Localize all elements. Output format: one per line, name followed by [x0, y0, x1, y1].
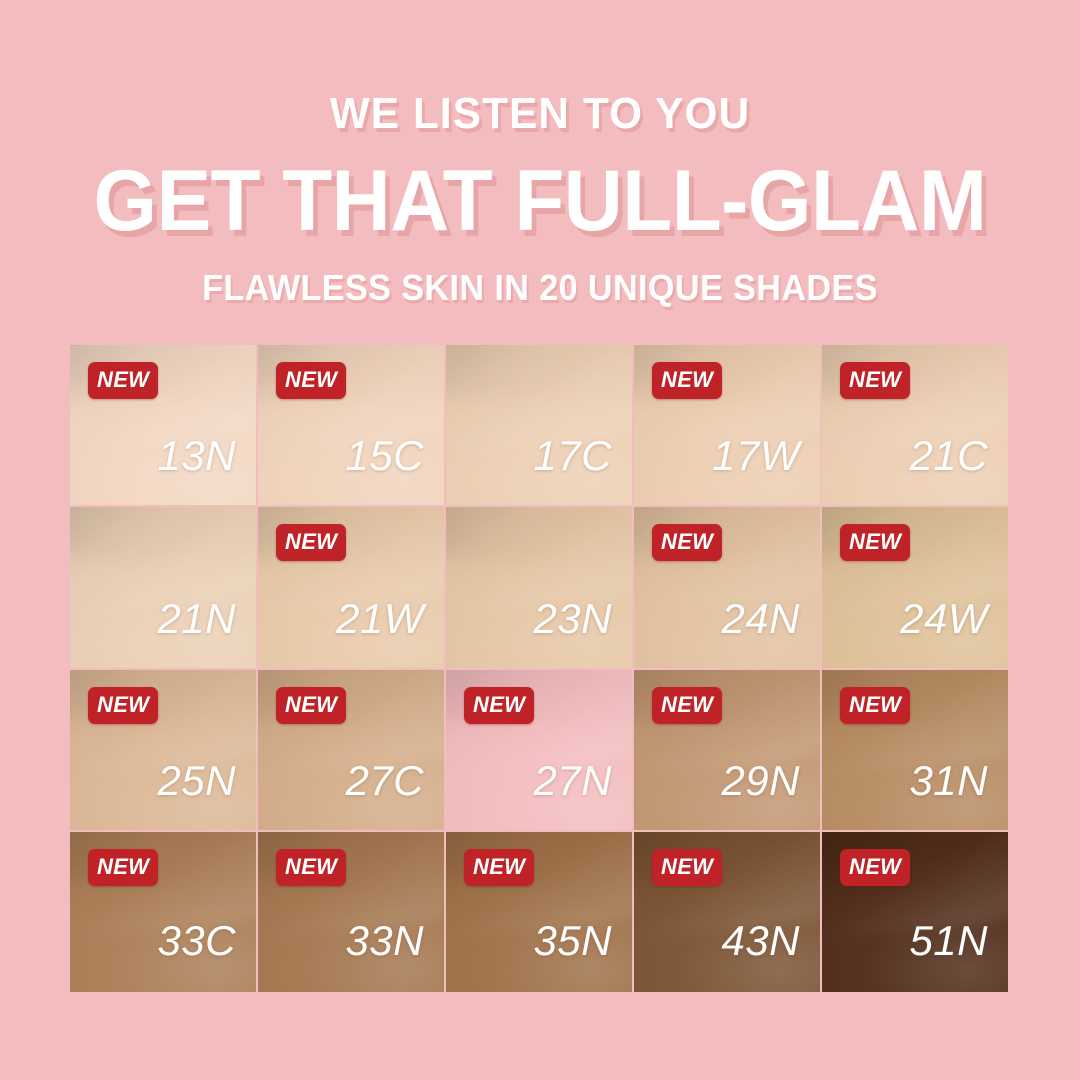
shade-swatch[interactable]: NEW24N	[634, 507, 820, 667]
swatch-shadow-overlay	[70, 507, 256, 558]
new-badge: NEW	[276, 524, 346, 561]
shade-code-label: 33N	[345, 920, 424, 962]
shade-swatch[interactable]: 21N	[70, 507, 256, 667]
shade-swatch[interactable]: NEW13N	[70, 345, 256, 505]
new-badge: NEW	[840, 362, 910, 399]
new-badge: NEW	[652, 687, 722, 724]
promo-canvas: WE LISTEN TO YOU GET THAT FULL-GLAM FLAW…	[0, 0, 1080, 1080]
shade-swatch[interactable]: NEW24W	[822, 507, 1008, 667]
new-badge: NEW	[276, 687, 346, 724]
shade-swatch[interactable]: NEW27N	[446, 670, 632, 830]
shade-code-label: 29N	[721, 760, 800, 802]
shade-code-label: 25N	[157, 760, 236, 802]
shade-code-label: 31N	[909, 760, 988, 802]
shade-code-label: 13N	[157, 435, 236, 477]
shade-swatch[interactable]: NEW21W	[258, 507, 444, 667]
shade-swatch[interactable]: NEW15C	[258, 345, 444, 505]
new-badge: NEW	[88, 849, 158, 886]
swatch-glow-overlay	[70, 507, 256, 667]
new-badge: NEW	[276, 849, 346, 886]
shade-code-label: 21W	[336, 598, 424, 640]
new-badge: NEW	[840, 524, 910, 561]
shade-swatch[interactable]: NEW29N	[634, 670, 820, 830]
eyebrow-text: WE LISTEN TO YOU	[22, 0, 1059, 136]
page-title: GET THAT FULL-GLAM	[27, 136, 1053, 244]
shade-swatch[interactable]: NEW33C	[70, 832, 256, 992]
shade-swatch[interactable]: NEW33N	[258, 832, 444, 992]
new-badge: NEW	[652, 362, 722, 399]
new-badge: NEW	[652, 524, 722, 561]
shade-swatch[interactable]: NEW35N	[446, 832, 632, 992]
shade-code-label: 23N	[533, 598, 612, 640]
shade-swatch[interactable]: NEW25N	[70, 670, 256, 830]
shade-code-label: 21C	[909, 435, 988, 477]
new-badge: NEW	[652, 849, 722, 886]
swatch-shadow-overlay	[446, 507, 632, 558]
new-badge: NEW	[464, 849, 534, 886]
new-badge: NEW	[464, 687, 534, 724]
new-badge: NEW	[840, 849, 910, 886]
shade-code-label: 24W	[900, 598, 988, 640]
shade-swatch[interactable]: NEW17W	[634, 345, 820, 505]
shade-code-label: 43N	[721, 920, 800, 962]
shade-code-label: 21N	[157, 598, 236, 640]
swatch-glow-overlay	[446, 507, 632, 667]
shade-code-label: 17W	[712, 435, 800, 477]
header-block: WE LISTEN TO YOU GET THAT FULL-GLAM FLAW…	[0, 0, 1080, 306]
new-badge: NEW	[88, 687, 158, 724]
shade-swatch[interactable]: NEW43N	[634, 832, 820, 992]
shade-code-label: 35N	[533, 920, 612, 962]
shade-swatch[interactable]: NEW31N	[822, 670, 1008, 830]
shade-swatch[interactable]: NEW21C	[822, 345, 1008, 505]
shade-swatch[interactable]: 17C	[446, 345, 632, 505]
swatch-shadow-overlay	[446, 345, 632, 396]
shade-code-label: 27N	[533, 760, 612, 802]
new-badge: NEW	[88, 362, 158, 399]
shade-code-label: 51N	[909, 920, 988, 962]
shade-code-label: 27C	[345, 760, 424, 802]
shade-code-label: 33C	[157, 920, 236, 962]
shade-swatch-grid: NEW13NNEW15C17CNEW17WNEW21C21NNEW21W23NN…	[70, 345, 1008, 992]
shade-swatch[interactable]: NEW51N	[822, 832, 1008, 992]
shade-swatch[interactable]: 23N	[446, 507, 632, 667]
new-badge: NEW	[840, 687, 910, 724]
subheadline-text: FLAWLESS SKIN IN 20 UNIQUE SHADES	[27, 244, 1053, 306]
swatch-glow-overlay	[446, 345, 632, 505]
new-badge: NEW	[276, 362, 346, 399]
shade-code-label: 15C	[345, 435, 424, 477]
shade-code-label: 17C	[533, 435, 612, 477]
shade-swatch[interactable]: NEW27C	[258, 670, 444, 830]
shade-code-label: 24N	[721, 598, 800, 640]
